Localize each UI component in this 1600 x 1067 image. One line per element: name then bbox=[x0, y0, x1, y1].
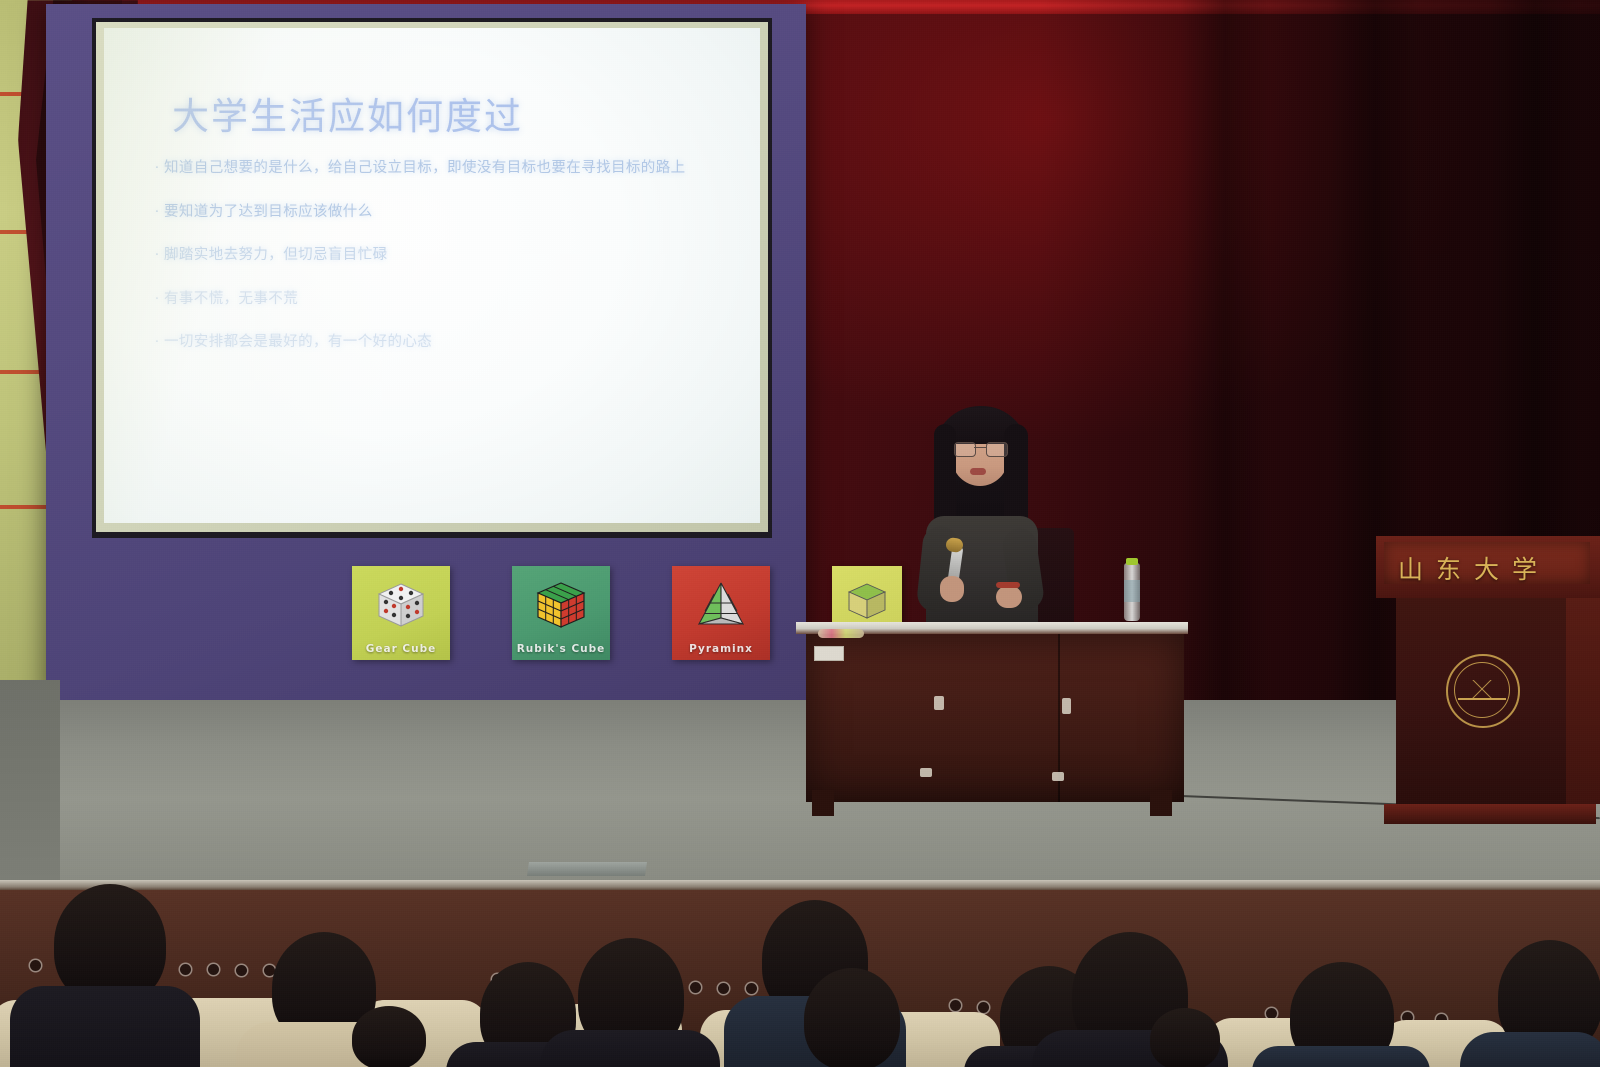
audience-shoulders bbox=[540, 1030, 720, 1067]
slide-bullet-list: · 知道自己想要的是什么，给自己设立目标，即使没有目标也要在寻找目标的路上 · … bbox=[150, 158, 720, 376]
floor-plate bbox=[527, 862, 647, 876]
desk-leg bbox=[1150, 790, 1172, 816]
bullet-marker-icon: · bbox=[150, 245, 164, 266]
stage-floor-left bbox=[0, 680, 60, 880]
poster-label: Gear Cube bbox=[352, 643, 450, 655]
hair-left bbox=[934, 424, 956, 528]
rubiks-cube-icon bbox=[534, 580, 588, 638]
gear-cube-icon bbox=[375, 580, 427, 636]
projected-slide: 大学生活应如何度过 · 知道自己想要的是什么，给自己设立目标，即使没有目标也要在… bbox=[104, 28, 760, 523]
desk-leg bbox=[812, 790, 834, 816]
bullet-marker-icon: · bbox=[150, 332, 164, 353]
bullet-text: 要知道为了达到目标应该做什么 bbox=[164, 202, 373, 224]
bullet-text: 有事不慌，无事不荒 bbox=[164, 289, 298, 311]
poster-label: Pyraminx bbox=[672, 643, 770, 655]
list-item: · 有事不慌，无事不荒 bbox=[150, 289, 720, 311]
lectern-side bbox=[1566, 598, 1600, 804]
barrier-lip bbox=[0, 880, 1600, 890]
desk-label bbox=[814, 646, 844, 661]
cube-icon bbox=[845, 580, 889, 628]
desk-front-panel bbox=[806, 634, 1184, 802]
bracelet bbox=[996, 582, 1020, 588]
lecture-hall-photo: 大学生活应如何度过 · 知道自己想要的是什么，给自己设立目标，即使没有目标也要在… bbox=[0, 0, 1600, 1067]
poster-pyraminx: Pyraminx bbox=[672, 566, 770, 660]
bullet-text: 知道自己想要的是什么，给自己设立目标，即使没有目标也要在寻找目标的路上 bbox=[164, 158, 686, 180]
audience-head bbox=[1150, 1008, 1220, 1067]
list-item: · 要知道为了达到目标应该做什么 bbox=[150, 202, 720, 224]
right-hand bbox=[996, 586, 1022, 608]
stage-floor bbox=[0, 700, 1600, 880]
audience-shoulders bbox=[1252, 1046, 1430, 1067]
audience-head bbox=[352, 1006, 426, 1067]
poster-label: Rubik's Cube bbox=[512, 643, 610, 655]
bullet-marker-icon: · bbox=[150, 158, 164, 179]
left-hand bbox=[940, 576, 964, 602]
lectern-nameplate: 山东大学 bbox=[1384, 542, 1590, 584]
audience-shoulders bbox=[1460, 1032, 1600, 1067]
list-item: · 一切安排都会是最好的，有一个好的心态 bbox=[150, 332, 720, 354]
desk-sticker bbox=[818, 629, 864, 638]
poster-rubiks-cube: Rubik's Cube bbox=[512, 566, 610, 660]
pyraminx-icon bbox=[694, 580, 748, 634]
university-emblem-icon bbox=[1446, 654, 1520, 728]
bullet-marker-icon: · bbox=[150, 202, 164, 223]
bottle-label bbox=[1124, 580, 1140, 602]
slide-title: 大学生活应如何度过 bbox=[172, 86, 523, 140]
lectern: 山东大学 bbox=[1376, 536, 1600, 836]
bullet-marker-icon: · bbox=[150, 289, 164, 310]
institution-name: 山东大学 bbox=[1398, 550, 1588, 586]
audience-head bbox=[804, 968, 900, 1067]
lectern-base bbox=[1384, 804, 1596, 824]
presenter bbox=[900, 398, 1060, 634]
bullet-text: 一切安排都会是最好的，有一个好的心态 bbox=[164, 332, 432, 354]
glasses-icon bbox=[954, 442, 1006, 455]
bottle-cap bbox=[1126, 558, 1138, 565]
bullet-text: 脚踏实地去努力，但切忌盲目忙碌 bbox=[164, 245, 388, 267]
list-item: · 脚踏实地去努力，但切忌盲目忙碌 bbox=[150, 245, 720, 267]
audience-shoulders bbox=[10, 986, 200, 1067]
poster-gear-cube: Gear Cube bbox=[352, 566, 450, 660]
mouth bbox=[970, 468, 986, 475]
list-item: · 知道自己想要的是什么，给自己设立目标，即使没有目标也要在寻找目标的路上 bbox=[150, 158, 720, 180]
